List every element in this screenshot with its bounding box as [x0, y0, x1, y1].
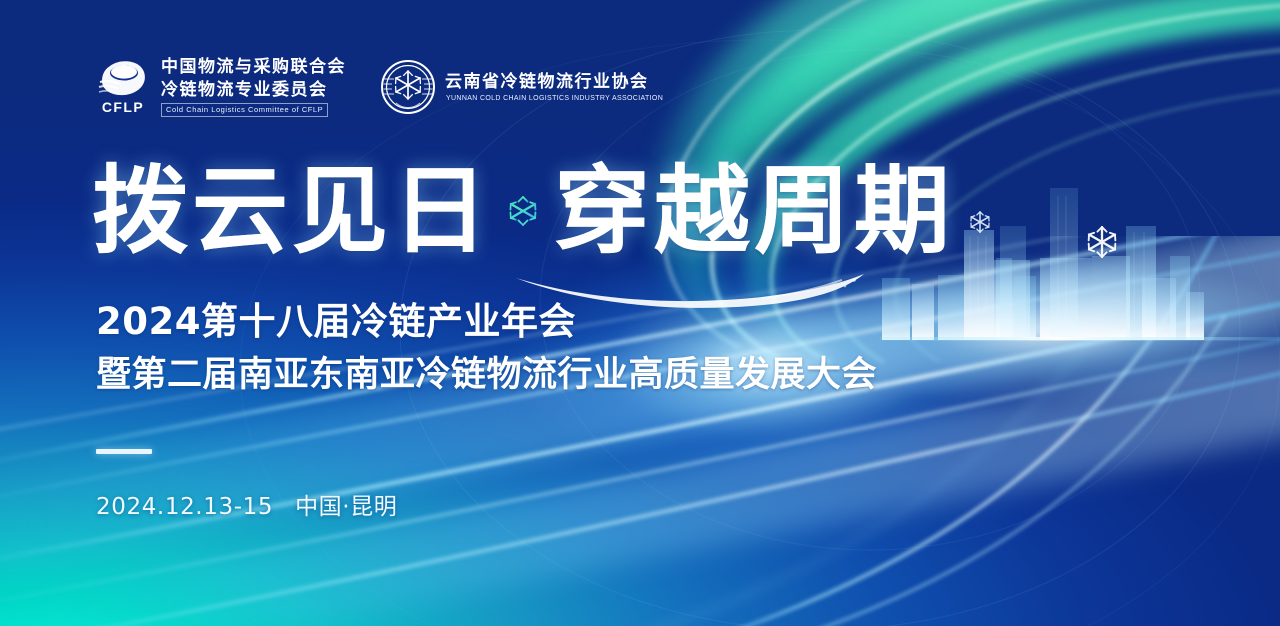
subtitle-line-1: 2024第十八届冷链产业年会	[96, 298, 877, 345]
logo-yunnan-name-cn: 云南省冷链物流行业协会	[445, 72, 663, 93]
logo-yunnan: 云南省冷链物流行业协会 YUNNAN COLD CHAIN LOGISTICS …	[380, 59, 663, 115]
headline: 拨云见日	[92, 163, 954, 259]
logo-cflp-name-line2: 冷链物流专业委员会	[161, 80, 346, 101]
event-location: 中国·昆明	[295, 487, 397, 521]
cflp-globe-logo-icon: CFLP	[94, 56, 152, 118]
headline-phrase-2: 穿越周期	[554, 163, 954, 259]
conference-banner: CFLP 中国物流与采购联合会 冷链物流专业委员会 Cold Chain Log…	[0, 0, 1280, 626]
svg-text:CFLP: CFLP	[102, 99, 144, 115]
logo-cflp-name-en: Cold Chain Logistics Committee of CFLP	[161, 103, 328, 117]
event-meta: 2024.12.13-15 中国·昆明	[96, 487, 397, 521]
divider	[96, 449, 152, 454]
logo-cflp-name-line1: 中国物流与采购联合会	[161, 57, 346, 78]
yunnan-snowflake-seal-logo-icon	[380, 59, 436, 115]
logo-yunnan-name-en: YUNNAN COLD CHAIN LOGISTICS INDUSTRY ASS…	[445, 94, 663, 102]
subtitle-line-2: 暨第二届南亚东南亚冷链物流行业高质量发展大会	[96, 353, 877, 398]
logo-bar: CFLP 中国物流与采购联合会 冷链物流专业委员会 Cold Chain Log…	[94, 56, 663, 118]
headline-phrase-1: 拨云见日	[92, 163, 492, 259]
event-date: 2024.12.13-15	[96, 494, 273, 520]
subtitle: 2024第十八届冷链产业年会 暨第二届南亚东南亚冷链物流行业高质量发展大会	[96, 298, 877, 398]
logo-cflp: CFLP 中国物流与采购联合会 冷链物流专业委员会 Cold Chain Log…	[94, 56, 346, 118]
snowflake-icon	[506, 194, 540, 228]
